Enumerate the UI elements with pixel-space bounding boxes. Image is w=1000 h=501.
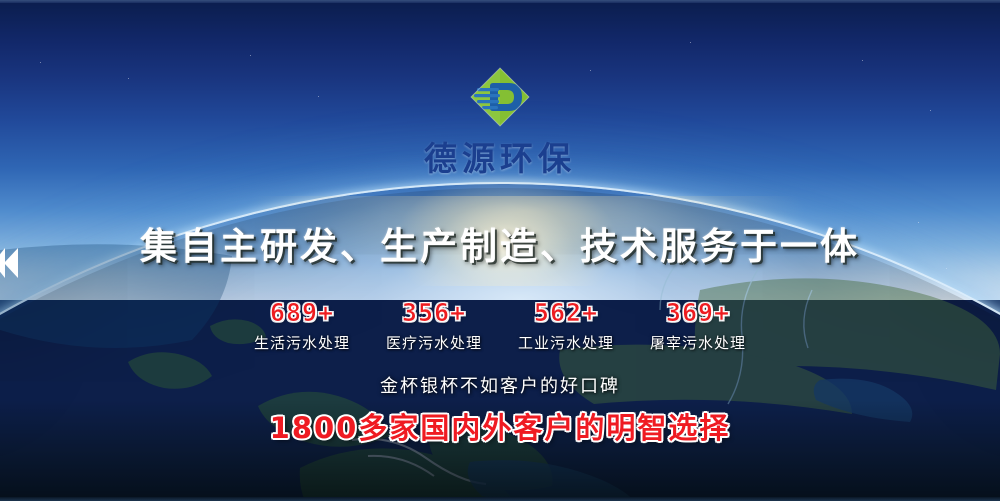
stats-row: 689+ 生活污水处理 356+ 医疗污水处理 562+ 工业污水处理 369+… xyxy=(236,300,764,353)
brand-logo[interactable]: 德源环保 xyxy=(0,66,1000,180)
stat-value: 356+ xyxy=(368,300,500,325)
stat-label: 医疗污水处理 xyxy=(368,332,500,353)
stat-label: 屠宰污水处理 xyxy=(632,332,764,353)
deyuan-diamond-logo-icon xyxy=(469,66,531,128)
bottom-border xyxy=(0,497,1000,501)
stat-item: 689+ 生活污水处理 xyxy=(236,300,368,353)
hero-banner: 德源环保 集自主研发、生产制造、技术服务于一体 689+ 生活污水处理 356+… xyxy=(0,0,1000,501)
stat-value: 689+ xyxy=(236,300,368,325)
headline-text: 集自主研发、生产制造、技术服务于一体 xyxy=(0,216,1000,270)
stat-item: 356+ 医疗污水处理 xyxy=(368,300,500,353)
stat-value: 369+ xyxy=(632,300,764,325)
stat-label: 生活污水处理 xyxy=(236,332,368,353)
tagline-primary: 金杯银杯不如客户的好口碑 xyxy=(0,372,1000,398)
stat-item: 369+ 屠宰污水处理 xyxy=(632,300,764,353)
stat-value: 562+ xyxy=(500,300,632,325)
tagline-highlight: 1800多家国内外客户的明智选择 xyxy=(0,405,1000,447)
stat-label: 工业污水处理 xyxy=(500,332,632,353)
brand-name-text: 德源环保 xyxy=(0,132,1000,180)
stat-item: 562+ 工业污水处理 xyxy=(500,300,632,353)
